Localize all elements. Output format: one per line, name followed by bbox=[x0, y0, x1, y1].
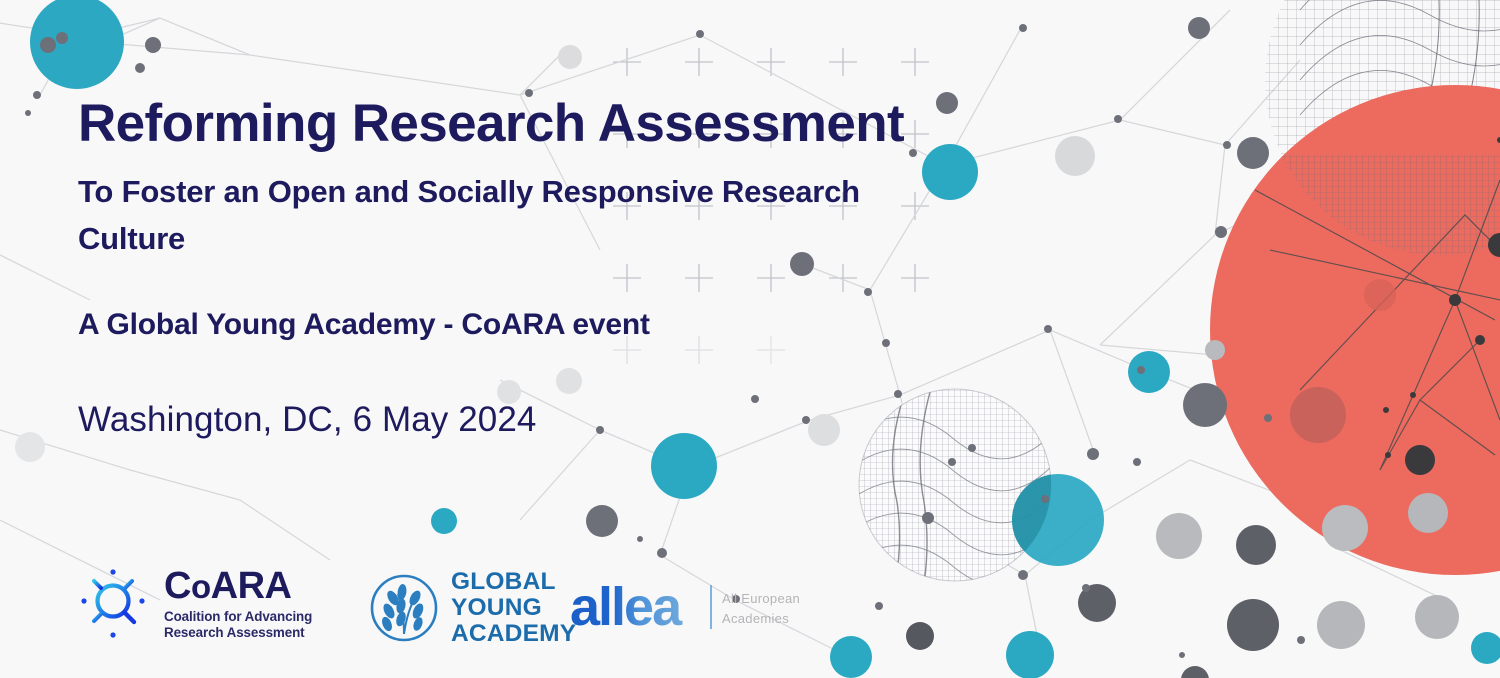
gya-line-2: YOUNG bbox=[451, 595, 576, 621]
event-line: A Global Young Academy - CoARA event bbox=[78, 308, 650, 342]
location-date: Washington, DC, 6 May 2024 bbox=[78, 400, 536, 440]
allea-divider bbox=[710, 585, 712, 629]
allea-tagline-line1: All European bbox=[722, 589, 800, 609]
logo-allea[interactable]: allea All European Academies bbox=[570, 577, 800, 639]
allea-tagline-line2: Academies bbox=[722, 609, 800, 629]
allea-tagline: All European Academies bbox=[722, 589, 800, 628]
gya-line-1: GLOBAL bbox=[451, 569, 576, 595]
logo-coara[interactable]: CoARA Coalition for Advancing Research A… bbox=[72, 565, 312, 643]
coara-letters-ara: ARA bbox=[211, 565, 292, 607]
magnifying-glass-sun-icon bbox=[72, 565, 160, 643]
coara-tagline-line1: Coalition for Advancing bbox=[164, 609, 312, 625]
coara-letter-o: o bbox=[191, 568, 211, 605]
coara-wordmark-block: CoARA Coalition for Advancing Research A… bbox=[164, 567, 312, 642]
gya-line-3: ACADEMY bbox=[451, 621, 576, 647]
coara-letter-c: C bbox=[164, 565, 191, 607]
coara-wordmark: CoARA bbox=[164, 567, 312, 605]
coara-tagline: Coalition for Advancing Research Assessm… bbox=[164, 609, 312, 642]
event-banner: Reforming Research Assessment To Foster … bbox=[0, 0, 1500, 678]
allea-wordmark: allea bbox=[570, 577, 702, 639]
gya-plant-circle-icon bbox=[368, 572, 440, 644]
page-subtitle: To Foster an Open and Socially Responsiv… bbox=[78, 168, 878, 262]
gya-wordmark: GLOBAL YOUNG ACADEMY bbox=[451, 569, 576, 647]
page-title: Reforming Research Assessment bbox=[78, 96, 904, 152]
logo-bar: CoARA Coalition for Advancing Research A… bbox=[0, 555, 880, 665]
logo-global-young-academy[interactable]: GLOBAL YOUNG ACADEMY bbox=[368, 569, 576, 647]
svg-text:allea: allea bbox=[570, 577, 683, 637]
coral-node-muted bbox=[1290, 387, 1346, 443]
coara-tagline-line2: Research Assessment bbox=[164, 625, 312, 641]
